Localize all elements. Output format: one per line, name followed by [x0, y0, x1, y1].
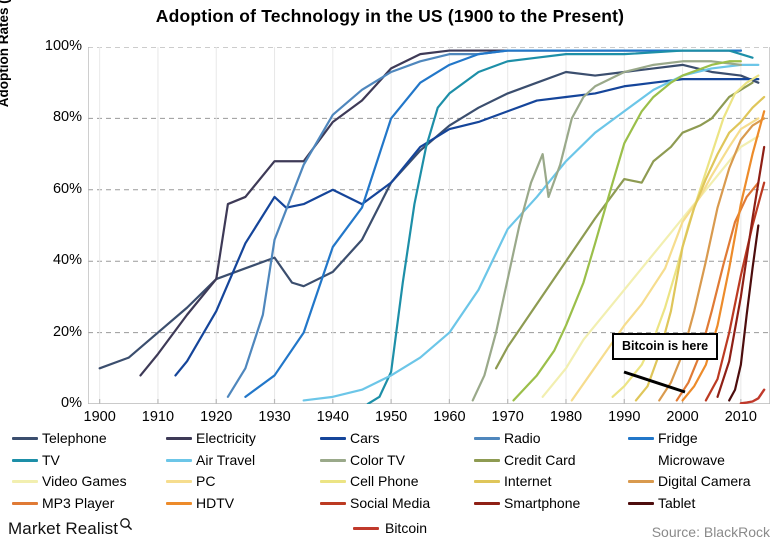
y-tick-label: 100% — [26, 38, 82, 54]
legend-item-microwave[interactable]: Microwave — [628, 450, 780, 471]
legend-row: TelephoneElectricityCarsRadioFridge — [12, 428, 780, 449]
series-line — [706, 183, 764, 401]
legend-row: MP3 PlayerHDTVSocial MediaSmartphoneTabl… — [12, 493, 780, 514]
series-line — [175, 79, 758, 375]
series-line — [741, 390, 764, 404]
x-tick-label: 1950 — [375, 409, 407, 425]
legend-label: MP3 Player — [42, 496, 114, 511]
legend-item-air-travel[interactable]: Air Travel — [166, 450, 320, 471]
y-tick-label: 0% — [26, 395, 82, 411]
legend-swatch — [12, 459, 38, 462]
annotation-bitcoin-is-here: Bitcoin is here — [612, 333, 718, 360]
legend-swatch — [474, 459, 500, 462]
legend-label: PC — [196, 474, 215, 489]
legend-label: Cars — [350, 431, 380, 446]
legend-label: Social Media — [350, 496, 430, 511]
legend-swatch — [12, 437, 38, 440]
legend-swatch — [628, 437, 654, 440]
legend-row: Video GamesPCCell PhoneInternetDigital C… — [12, 471, 780, 492]
legend-swatch — [628, 502, 654, 505]
legend-label: Radio — [504, 431, 541, 446]
legend-swatch — [12, 502, 38, 505]
legend-label: Air Travel — [196, 453, 255, 468]
legend-item-video-games[interactable]: Video Games — [12, 471, 166, 492]
legend-item-internet[interactable]: Internet — [474, 471, 628, 492]
series-line — [677, 183, 759, 401]
legend-swatch — [628, 459, 654, 462]
legend-swatch — [320, 437, 346, 440]
legend-item-cars[interactable]: Cars — [320, 428, 474, 449]
y-axis-ticks: 0%20%40%60%80%100% — [18, 47, 82, 404]
legend-swatch — [12, 480, 38, 483]
legend-label: Smartphone — [504, 496, 580, 511]
x-tick-label: 1930 — [258, 409, 290, 425]
source-attribution: Source: BlackRock — [652, 524, 770, 540]
legend-swatch — [474, 480, 500, 483]
legend-swatch — [320, 459, 346, 462]
legend-row: TVAir TravelColor TVCredit CardMicrowave — [12, 450, 780, 471]
legend-label: Digital Camera — [658, 474, 751, 489]
page-title: Adoption of Technology in the US (1900 t… — [0, 6, 780, 27]
legend-item-hdtv[interactable]: HDTV — [166, 493, 320, 514]
brand-market-realist: Market Realist — [8, 519, 133, 539]
legend-item-cell-phone[interactable]: Cell Phone — [320, 471, 474, 492]
x-tick-label: 1970 — [492, 409, 524, 425]
legend-label: Video Games — [42, 474, 127, 489]
legend-label: Color TV — [350, 453, 405, 468]
x-tick-label: 1940 — [317, 409, 349, 425]
x-tick-label: 1990 — [608, 409, 640, 425]
brand-label: Market Realist — [8, 519, 118, 539]
y-tick-label: 80% — [26, 109, 82, 125]
legend-label: Electricity — [196, 431, 256, 446]
legend-swatch — [628, 480, 654, 483]
x-tick-label: 1920 — [200, 409, 232, 425]
legend-item-pc[interactable]: PC — [166, 471, 320, 492]
legend-swatch — [474, 437, 500, 440]
legend-item-telephone[interactable]: Telephone — [12, 428, 166, 449]
magnifier-icon — [119, 516, 133, 536]
legend-label: Fridge — [658, 431, 698, 446]
x-tick-label: 1960 — [433, 409, 465, 425]
legend-swatch — [166, 437, 192, 440]
legend-item-social-media[interactable]: Social Media — [320, 493, 474, 514]
legend-swatch — [320, 480, 346, 483]
legend-item-tv[interactable]: TV — [12, 450, 166, 471]
legend-label-bitcoin: Bitcoin — [385, 521, 427, 536]
chart-legend: TelephoneElectricityCarsRadioFridgeTVAir… — [12, 428, 780, 512]
legend-item-electricity[interactable]: Electricity — [166, 428, 320, 449]
legend-item-color-tv[interactable]: Color TV — [320, 450, 474, 471]
x-tick-label: 1900 — [84, 409, 116, 425]
legend-swatch — [166, 480, 192, 483]
x-tick-label: 1980 — [550, 409, 582, 425]
legend-item-mp3-player[interactable]: MP3 Player — [12, 493, 166, 514]
legend-item-radio[interactable]: Radio — [474, 428, 628, 449]
legend-item-smartphone[interactable]: Smartphone — [474, 493, 628, 514]
legend-swatch-bitcoin — [353, 527, 379, 530]
y-axis-label: Adoption Rates (%) — [0, 0, 11, 140]
legend-item-credit-card[interactable]: Credit Card — [474, 450, 628, 471]
y-tick-label: 20% — [26, 324, 82, 340]
legend-label: Telephone — [42, 431, 107, 446]
legend-label: Microwave — [658, 453, 725, 468]
legend-swatch — [320, 502, 346, 505]
x-tick-label: 2000 — [666, 409, 698, 425]
legend-swatch — [474, 502, 500, 505]
y-tick-label: 40% — [26, 252, 82, 268]
x-tick-label: 1910 — [142, 409, 174, 425]
legend-label: HDTV — [196, 496, 234, 511]
legend-item-fridge[interactable]: Fridge — [628, 428, 780, 449]
legend-item-digital-camera[interactable]: Digital Camera — [628, 471, 780, 492]
legend-label: Cell Phone — [350, 474, 419, 489]
legend-label: Credit Card — [504, 453, 576, 468]
legend-item-tablet[interactable]: Tablet — [628, 493, 780, 514]
legend-label: Internet — [504, 474, 551, 489]
legend-label: Tablet — [658, 496, 695, 511]
legend-swatch — [166, 502, 192, 505]
y-tick-label: 60% — [26, 181, 82, 197]
legend-swatch — [166, 459, 192, 462]
x-tick-label: 2010 — [725, 409, 757, 425]
legend-label: TV — [42, 453, 60, 468]
chart-root: Adoption of Technology in the US (1900 t… — [0, 0, 780, 554]
